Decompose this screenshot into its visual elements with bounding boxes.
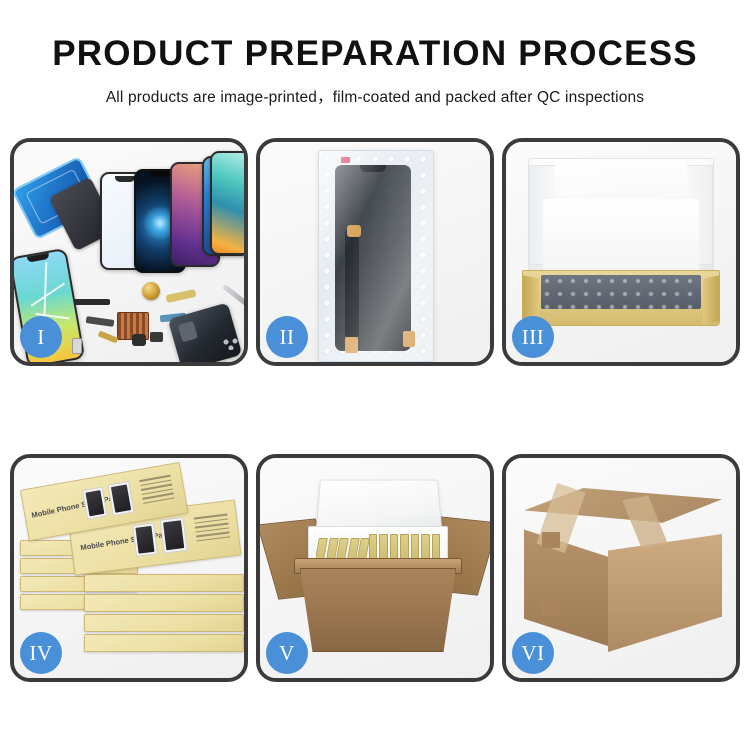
flex-cable-icon — [86, 316, 115, 327]
step-badge-3: III — [512, 316, 554, 358]
box-spec-lines — [139, 475, 175, 507]
bubble-wrap-bag-icon — [318, 150, 434, 362]
page-subtitle: All products are image-printed，film-coat… — [0, 85, 750, 107]
carton-body-icon — [300, 568, 456, 652]
retail-box-slab — [84, 614, 244, 632]
crack-line — [31, 283, 65, 307]
camera-module-icon — [132, 334, 146, 346]
sim-tray-icon — [72, 338, 82, 354]
adhesive-tape-icon — [347, 225, 361, 237]
adhesive-tape-icon — [403, 331, 415, 347]
process-step-panel-6: VI — [502, 454, 740, 682]
process-step-grid: I II — [10, 138, 740, 686]
screws-icon — [222, 338, 244, 350]
box-lid-icon — [528, 158, 714, 276]
step-badge-4: IV — [20, 632, 62, 674]
flex-cable-icon — [74, 299, 110, 305]
speaker-module-icon — [150, 332, 163, 342]
process-step-panel-1: I — [10, 138, 248, 366]
carton-side-face — [608, 534, 722, 652]
process-step-panel-3: III — [502, 138, 740, 366]
yellow-box-tray-icon — [522, 270, 720, 326]
retail-box-brand-text: Mobile Phone Spare Parts — [80, 529, 173, 552]
flex-cable-icon — [98, 330, 119, 343]
foam-lid-icon — [316, 480, 442, 531]
box-spec-lines — [194, 514, 231, 545]
step-badge-2: II — [266, 316, 308, 358]
gray-bubble-wrap-contents-icon — [541, 275, 701, 309]
box-screen-graphic — [160, 517, 188, 554]
white-foam-sheet-icon — [543, 199, 699, 279]
product-preparation-infographic: PRODUCT PREPARATION PROCESS All products… — [0, 0, 750, 750]
phone-screen-teal-icon — [210, 151, 248, 255]
tray-side-right — [703, 275, 719, 324]
adhesive-tape-icon — [345, 337, 358, 353]
open-carton-illustration — [274, 482, 482, 662]
retail-box-slab — [84, 574, 244, 592]
retail-box-slab — [84, 634, 244, 652]
process-step-panel-2: II — [256, 138, 494, 366]
phone-back-cover-icon — [168, 303, 242, 366]
open-flat-box-illustration — [522, 158, 720, 336]
box-screen-graphic — [82, 487, 108, 520]
carton-label-patch — [542, 600, 560, 616]
speaker-coil-icon — [142, 282, 160, 300]
retail-box-slab — [84, 594, 244, 612]
process-step-panel-5: V — [256, 454, 494, 682]
carton-label-patch — [542, 532, 560, 548]
step-badge-6: VI — [512, 632, 554, 674]
box-screen-graphic — [132, 523, 158, 557]
process-step-panel-4: Mobile Phone Spare Parts Mobile Phone Sp… — [10, 454, 248, 682]
step-badge-5: V — [266, 632, 308, 674]
step-badge-1: I — [20, 316, 62, 358]
sealed-carton-illustration — [524, 488, 722, 648]
header: PRODUCT PREPARATION PROCESS All products… — [0, 0, 750, 107]
page-title: PRODUCT PREPARATION PROCESS — [0, 36, 750, 71]
flex-cable-icon — [345, 229, 359, 337]
red-label-sticker-icon — [341, 157, 350, 163]
flex-cable-icon — [165, 289, 196, 303]
box-screen-graphic — [107, 481, 134, 516]
